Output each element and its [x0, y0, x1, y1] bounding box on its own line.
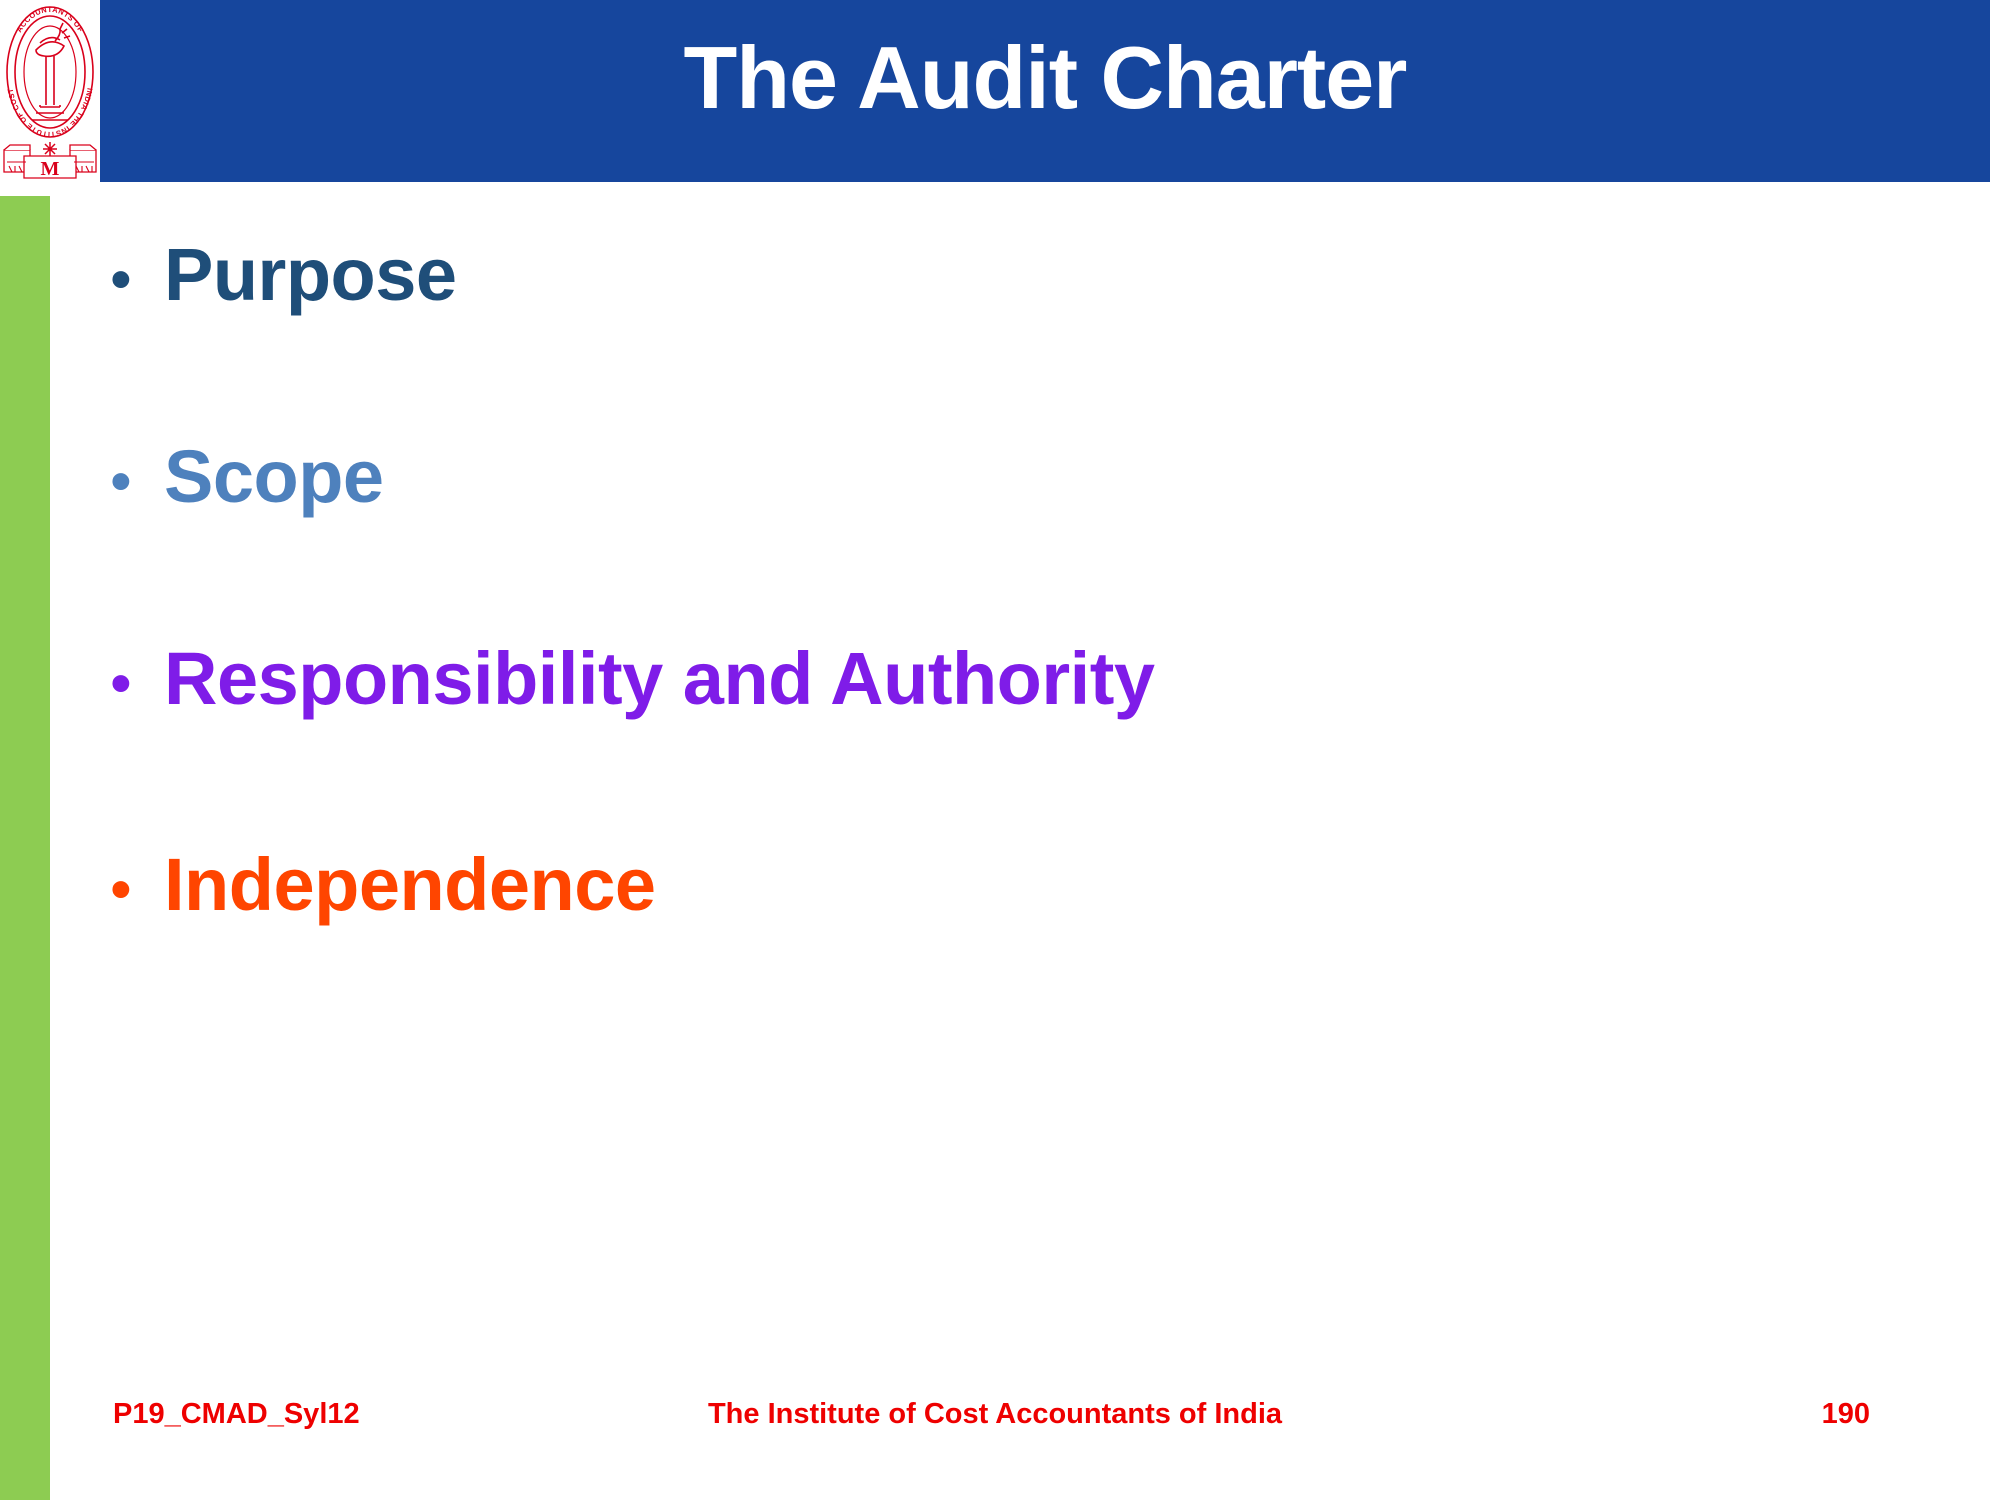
- page-title: The Audit Charter: [100, 0, 1990, 182]
- slide-canvas: The Audit Charter ACCOUNTANTS OF INDIA T…: [0, 0, 1990, 1500]
- logo-star: [43, 142, 57, 156]
- logo-area: ACCOUNTANTS OF INDIA THE INSTITUTE OF CO…: [0, 0, 100, 190]
- slide-footer: P19_CMAD_Syl12 The Institute of Cost Acc…: [0, 1390, 1990, 1450]
- bullet-label: Responsibility and Authority: [164, 642, 1155, 716]
- footer-page-number: 190: [1822, 1398, 1870, 1431]
- list-item: • Scope: [110, 440, 384, 514]
- bullet-label: Independence: [164, 848, 656, 922]
- bullet-label: Scope: [164, 440, 384, 514]
- bullet-icon: •: [110, 859, 164, 921]
- title-bar: The Audit Charter: [100, 0, 1990, 182]
- footer-institute-name: The Institute of Cost Accountants of Ind…: [0, 1398, 1990, 1431]
- list-item: • Purpose: [110, 238, 457, 312]
- bullet-icon: •: [110, 249, 164, 311]
- logo-ring-text-top: ACCOUNTANTS OF: [14, 5, 85, 34]
- icai-logo: ACCOUNTANTS OF INDIA THE INSTITUTE OF CO…: [0, 0, 100, 190]
- list-item: • Independence: [110, 848, 656, 922]
- logo-monogram: M: [41, 158, 60, 180]
- list-item: • Responsibility and Authority: [110, 642, 1155, 716]
- bullet-list: • Purpose • Scope • Responsibility and A…: [110, 200, 1910, 1350]
- bullet-label: Purpose: [164, 238, 457, 312]
- left-accent-strip: [0, 196, 50, 1500]
- bullet-icon: •: [110, 653, 164, 715]
- bullet-icon: •: [110, 451, 164, 513]
